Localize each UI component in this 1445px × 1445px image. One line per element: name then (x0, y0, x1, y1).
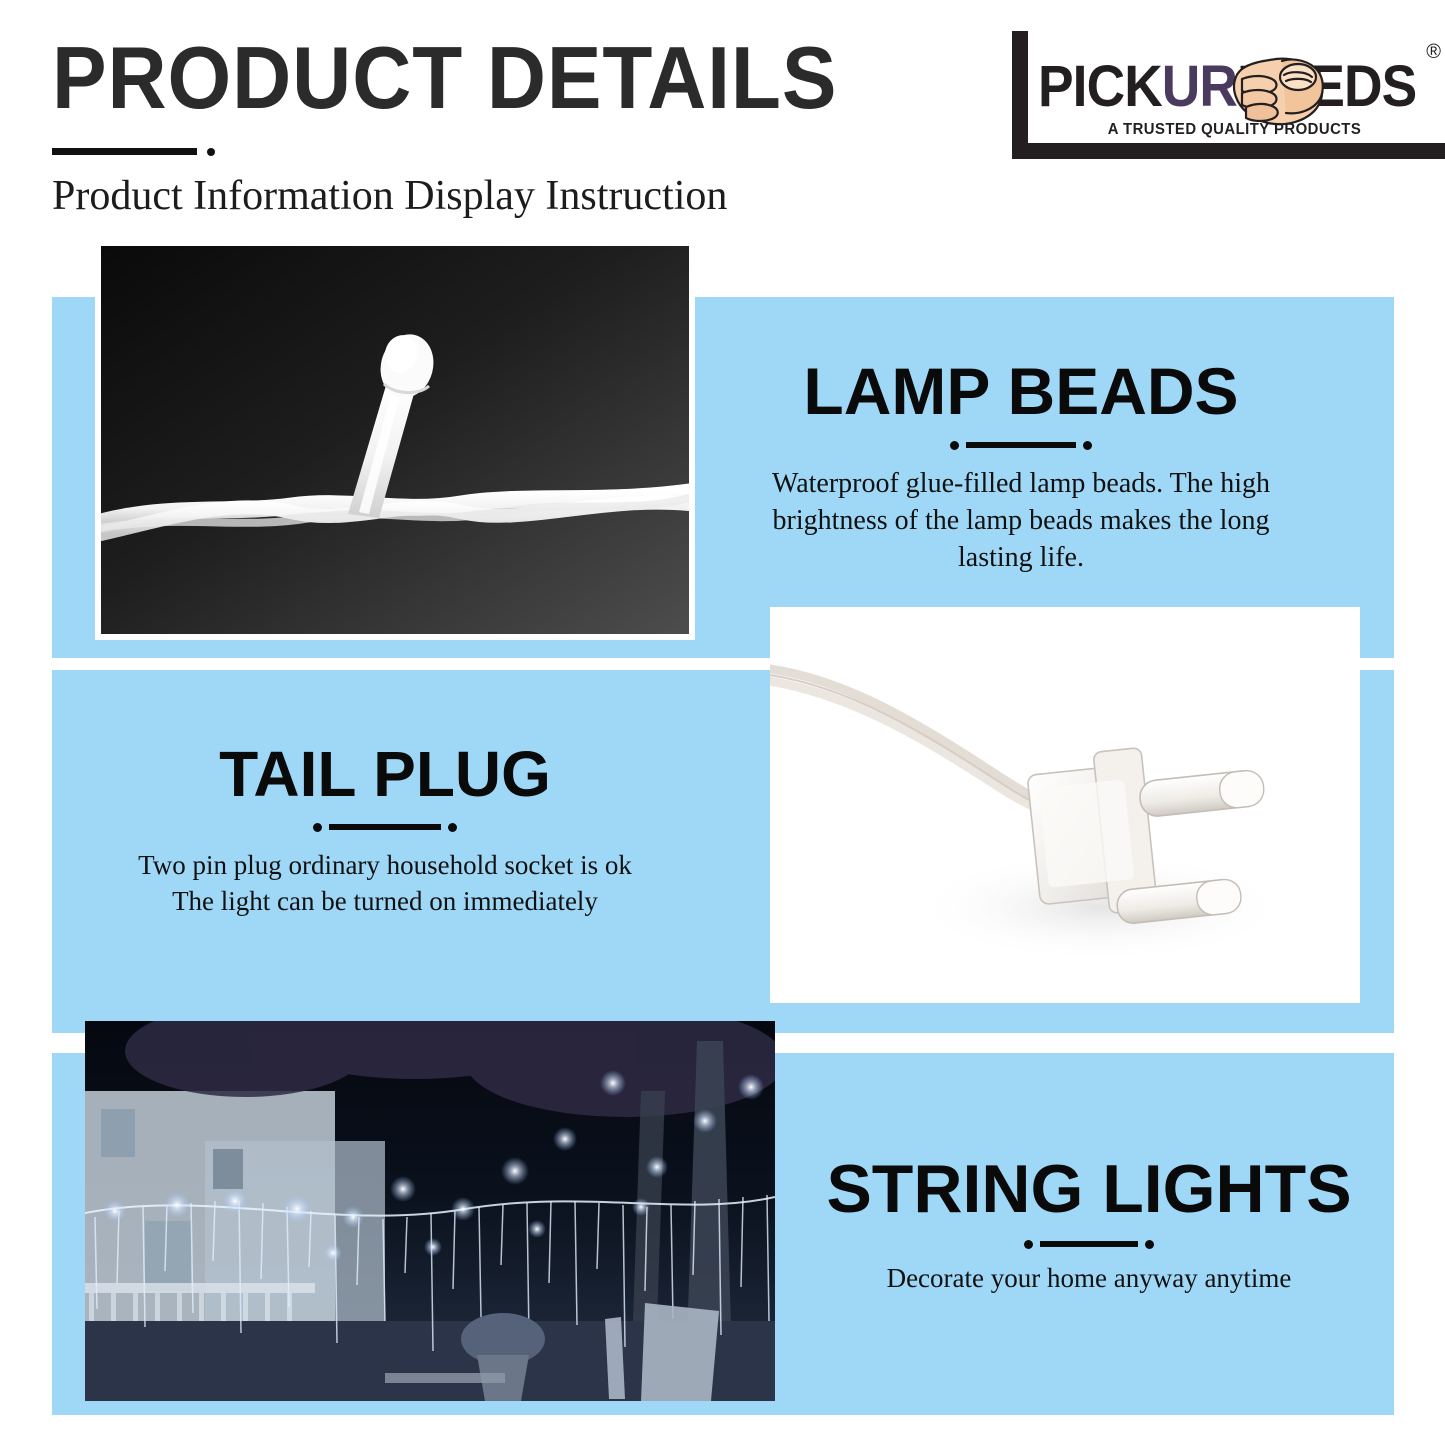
divider-dot-left (313, 823, 322, 832)
logo-inner-panel: PICKURNEEDS ® A TRUSTED QUALITY PRODUCTS (1028, 31, 1445, 143)
section-string-lights-text: STRING LIGHTS Decorate your home anyway … (786, 1155, 1392, 1297)
logo-frame-left-bar (1012, 31, 1028, 159)
section-tail-plug-text: TAIL PLUG Two pin plug ordinary househol… (104, 742, 666, 919)
registered-trademark-icon: ® (1426, 41, 1441, 64)
tail-plug-body: Two pin plug ordinary household socket i… (104, 848, 666, 919)
lamp-beads-divider (742, 438, 1300, 452)
lamp-bead-photo (95, 240, 695, 640)
tail-plug-divider (104, 820, 666, 834)
divider-bar (1040, 1241, 1138, 1247)
divider-dot-right (1145, 1240, 1154, 1249)
divider-dot-right (1083, 441, 1092, 450)
brand-logo: PICKURNEEDS ® A TRUSTED QUALITY PRODUCTS (1012, 31, 1445, 159)
tail-plug-heading: TAIL PLUG (104, 742, 666, 806)
logo-text-pick: PICK (1038, 54, 1162, 119)
page-subtitle: Product Information Display Instruction (52, 172, 727, 220)
string-lights-photo (85, 1021, 775, 1401)
string-lights-divider (786, 1237, 1392, 1251)
title-rule (52, 148, 197, 155)
tail-plug-body-line-2: The light can be turned on immediately (104, 884, 666, 920)
divider-dot-right (448, 823, 457, 832)
string-lights-heading: STRING LIGHTS (786, 1155, 1392, 1223)
title-rule-dot (207, 148, 215, 156)
lamp-beads-body: Waterproof glue-filled lamp beads. The h… (742, 466, 1300, 577)
divider-dot-left (950, 441, 959, 450)
divider-bar (329, 824, 441, 830)
logo-frame-bottom-bar (1012, 143, 1445, 159)
logo-tagline: A TRUSTED QUALITY PRODUCTS (1042, 121, 1426, 139)
tail-plug-body-line-1: Two pin plug ordinary household socket i… (104, 848, 666, 884)
divider-dot-left (1024, 1240, 1033, 1249)
section-lamp-beads-text: LAMP BEADS Waterproof glue-filled lamp b… (742, 358, 1300, 577)
divider-bar (966, 442, 1076, 448)
string-lights-body: Decorate your home anyway anytime (786, 1261, 1392, 1297)
tail-plug-photo (770, 607, 1360, 1003)
lamp-beads-heading: LAMP BEADS (742, 358, 1300, 424)
page-title: PRODUCT DETAILS (52, 32, 837, 124)
